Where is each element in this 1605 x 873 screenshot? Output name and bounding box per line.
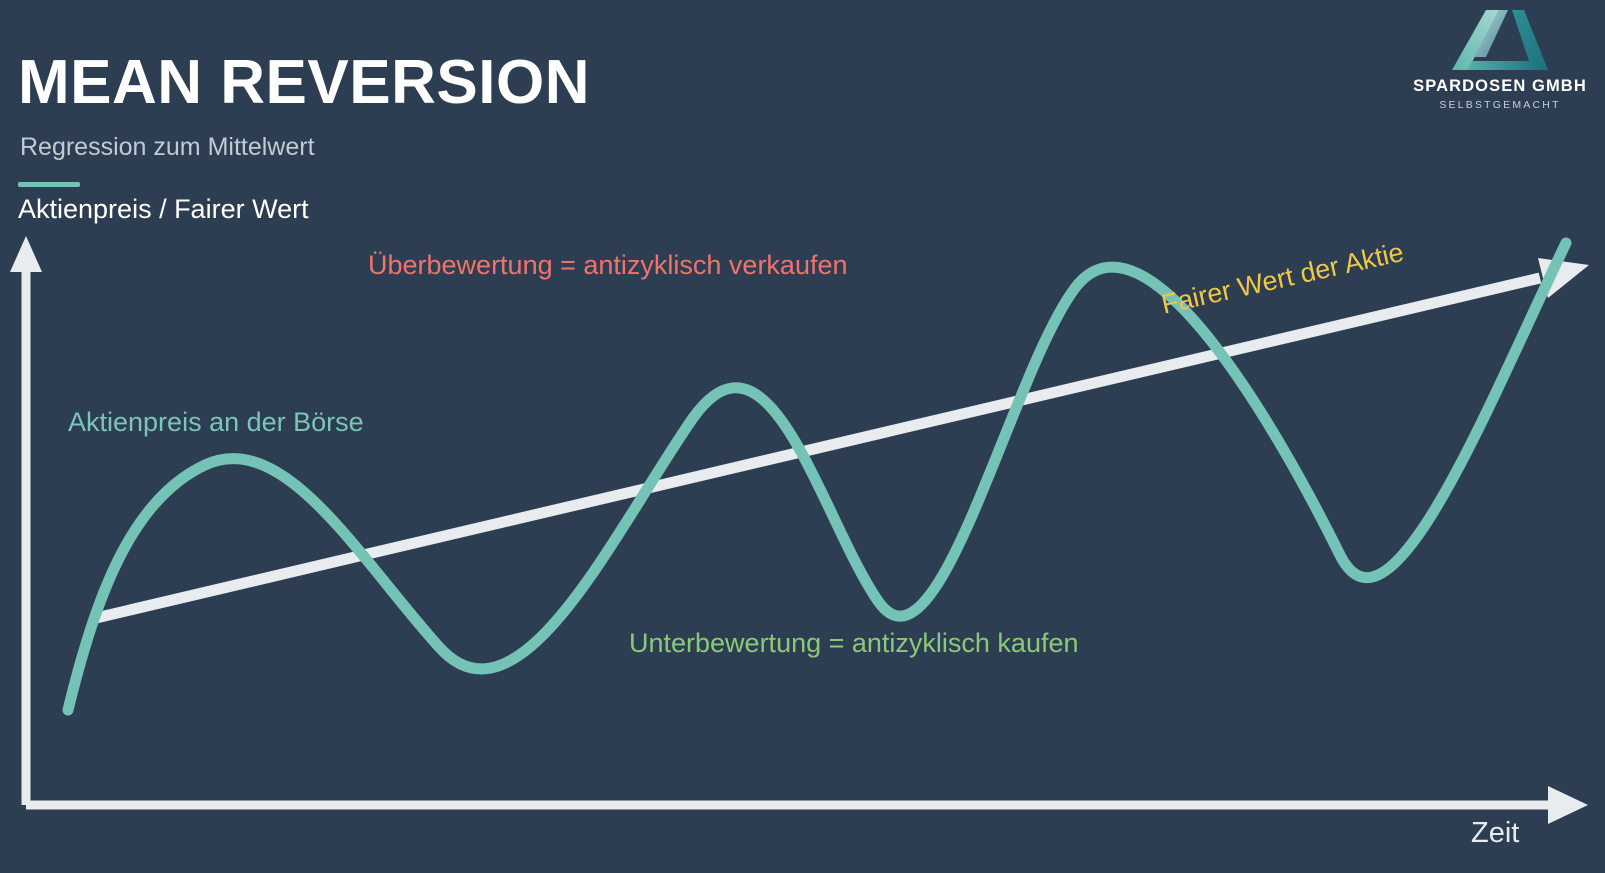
x-axis-label: Zeit bbox=[1471, 817, 1519, 850]
annotation-undervalued: Unterbewertung = antizyklisch kaufen bbox=[629, 628, 1079, 659]
annotation-overvalued: Überbewertung = antizyklisch verkaufen bbox=[368, 250, 848, 281]
slide-root: MEAN REVERSION Regression zum Mittelwert… bbox=[0, 0, 1605, 873]
y-axis bbox=[10, 236, 42, 805]
annotation-price-series: Aktienpreis an der Börse bbox=[68, 407, 364, 438]
fair-value-trend-line bbox=[96, 258, 1589, 618]
x-axis bbox=[26, 786, 1588, 824]
